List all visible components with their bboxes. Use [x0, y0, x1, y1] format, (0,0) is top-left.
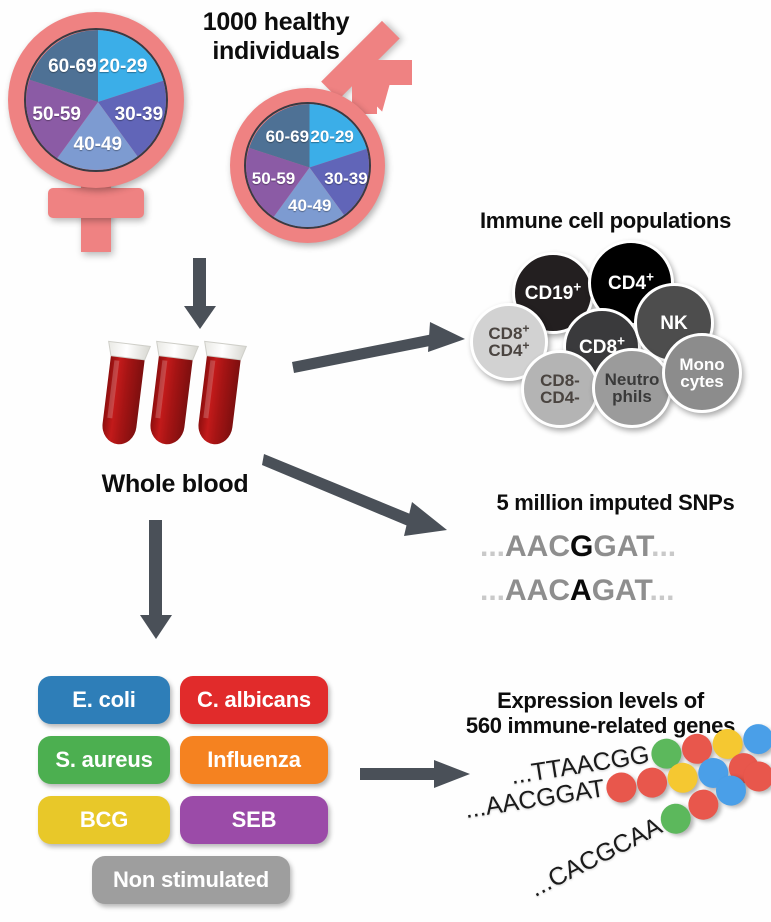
- female-symbol-stem-horizontal: [48, 188, 144, 218]
- immune-title: Immune cell populations: [440, 208, 771, 233]
- immune-cell-label: CD4+: [608, 274, 654, 293]
- expression-bead: [604, 770, 638, 804]
- age-label-30-39: 30-39: [115, 104, 164, 126]
- male-symbol: 20-2930-3940-4950-5960-69: [212, 60, 412, 250]
- immune-cell-cd4pos: CD4+: [588, 240, 674, 326]
- male-age-pie: 20-2930-3940-4950-5960-69: [244, 102, 371, 229]
- immune-cell-cd8poscd4pos: CD8+CD4+: [470, 303, 548, 381]
- snp-suffix: ...: [649, 574, 674, 607]
- immune-cell-label: CD19+: [525, 284, 582, 303]
- stimulation-s-aureus[interactable]: S. aureus: [38, 736, 170, 784]
- expression-bead: [635, 765, 669, 799]
- arrow-blood-to-immune: [290, 318, 465, 378]
- arrow-blood-to-immune-icon: [290, 318, 465, 373]
- expression-strand-sequence: ...TTAACGG: [509, 741, 652, 792]
- stimulation-label: Non stimulated: [113, 867, 269, 893]
- expression-bead: [656, 799, 696, 839]
- stimulation-label: S. aureus: [55, 747, 152, 773]
- blood-tubes-icon: [100, 338, 270, 450]
- expression-bead: [727, 751, 761, 785]
- stimulation-seb[interactable]: SEB: [180, 796, 328, 844]
- arrow-blood-to-snps: [262, 452, 447, 552]
- age-label-40-49: 40-49: [288, 196, 331, 216]
- arrow-blood-to-snps-icon: [262, 452, 447, 547]
- expression-title-line2: 560 immune-related genes: [430, 713, 771, 738]
- snp-line-1: ...AACAGAT...: [480, 574, 674, 608]
- stimulation-c-albicans[interactable]: C. albicans: [180, 676, 328, 724]
- snp-pre: AAC: [505, 574, 570, 607]
- whole-blood-label: Whole blood: [60, 470, 290, 499]
- immune-cell-cd8pos: CD8+: [563, 308, 641, 386]
- expression-title: Expression levels of 560 immune-related …: [430, 688, 771, 739]
- stimulation-bcg[interactable]: BCG: [38, 796, 170, 844]
- stimulation-label: SEB: [232, 807, 277, 833]
- snp-post: GAT: [592, 574, 650, 607]
- expression-strand-sequence: ...AACGGAT: [463, 774, 607, 825]
- expression-title-line1: Expression levels of: [430, 688, 771, 713]
- immune-cell-cd8negcd4neg: CD8-CD4-: [521, 350, 599, 428]
- age-label-60-69: 60-69: [266, 127, 309, 147]
- immune-cell-label: CD8+CD4+: [488, 325, 529, 359]
- age-label-50-59: 50-59: [32, 104, 81, 126]
- stimulation-non-stimulated[interactable]: Non stimulated: [92, 856, 290, 904]
- blood-tubes: [100, 338, 270, 448]
- stimulation-label: BCG: [80, 807, 128, 833]
- expression-strand-2: ...CACGCAA: [532, 710, 771, 922]
- stimulation-label: E. coli: [72, 687, 135, 713]
- arrow-blood-to-stimulations-icon: [135, 520, 177, 640]
- immune-cell-label: Monocytes: [679, 356, 724, 390]
- arrow-cohort-to-blood: [180, 258, 220, 335]
- snp-sequences: ...AACGGAT... ...AACAGAT...: [480, 530, 760, 620]
- stimulation-label: C. albicans: [197, 687, 311, 713]
- immune-cell-label: NK: [660, 314, 687, 333]
- immune-cell-label: Neutrophils: [605, 371, 660, 405]
- arrow-stimulations-to-expression: [360, 758, 470, 795]
- expression-bead: [665, 761, 699, 795]
- immune-cell-nk: NK: [634, 283, 714, 363]
- expression-strand-1: ...AACGGAT: [465, 750, 771, 846]
- expression-bead: [738, 756, 771, 796]
- female-age-pie: 20-2930-3940-4950-5960-69: [24, 28, 168, 172]
- arrow-blood-to-stimulations: [135, 520, 177, 645]
- age-label-60-69: 60-69: [48, 56, 97, 78]
- immune-cell-monocytes: Monocytes: [662, 333, 742, 413]
- immune-cell-neutrophils: Neutrophils: [592, 348, 672, 428]
- immune-cell-label: CD8+: [579, 338, 625, 357]
- snp-post: GAT: [593, 530, 651, 563]
- expression-bead: [766, 742, 771, 782]
- cohort-title-line1: 1000 healthy: [176, 8, 376, 37]
- arrow-cohort-to-blood-icon: [180, 258, 220, 330]
- immune-cell-label: CD8-CD4-: [540, 372, 580, 406]
- stimulation-influenza[interactable]: Influenza: [180, 736, 328, 784]
- age-label-50-59: 50-59: [252, 169, 295, 189]
- arrow-stimulations-to-expression-icon: [360, 758, 470, 790]
- expression-bead: [696, 756, 730, 790]
- snp-prefix: ...: [480, 530, 505, 563]
- stimulation-label: Influenza: [207, 747, 301, 773]
- snp-variant: G: [570, 530, 593, 563]
- snps-title: 5 million imputed SNPs: [460, 490, 771, 515]
- female-symbol: 20-2930-3940-4950-5960-69: [8, 12, 188, 257]
- age-label-40-49: 40-49: [74, 134, 123, 156]
- expression-strand-sequence: ...CACGCAA: [525, 812, 667, 903]
- male-symbol-arrow-barb-b: [358, 60, 412, 85]
- snp-suffix: ...: [651, 530, 676, 563]
- snp-variant: A: [570, 574, 592, 607]
- snp-line-0: ...AACGGAT...: [480, 530, 676, 564]
- immune-cell-cd19pos: CD19+: [512, 252, 594, 334]
- expression-bead: [711, 770, 751, 810]
- snp-pre: AAC: [505, 530, 570, 563]
- age-label-20-29: 20-29: [310, 127, 353, 147]
- age-label-20-29: 20-29: [99, 56, 148, 78]
- snp-prefix: ...: [480, 574, 505, 607]
- age-label-30-39: 30-39: [324, 169, 367, 189]
- expression-bead: [649, 736, 683, 770]
- stimulation-e-coli[interactable]: E. coli: [38, 676, 170, 724]
- expression-bead: [683, 785, 723, 825]
